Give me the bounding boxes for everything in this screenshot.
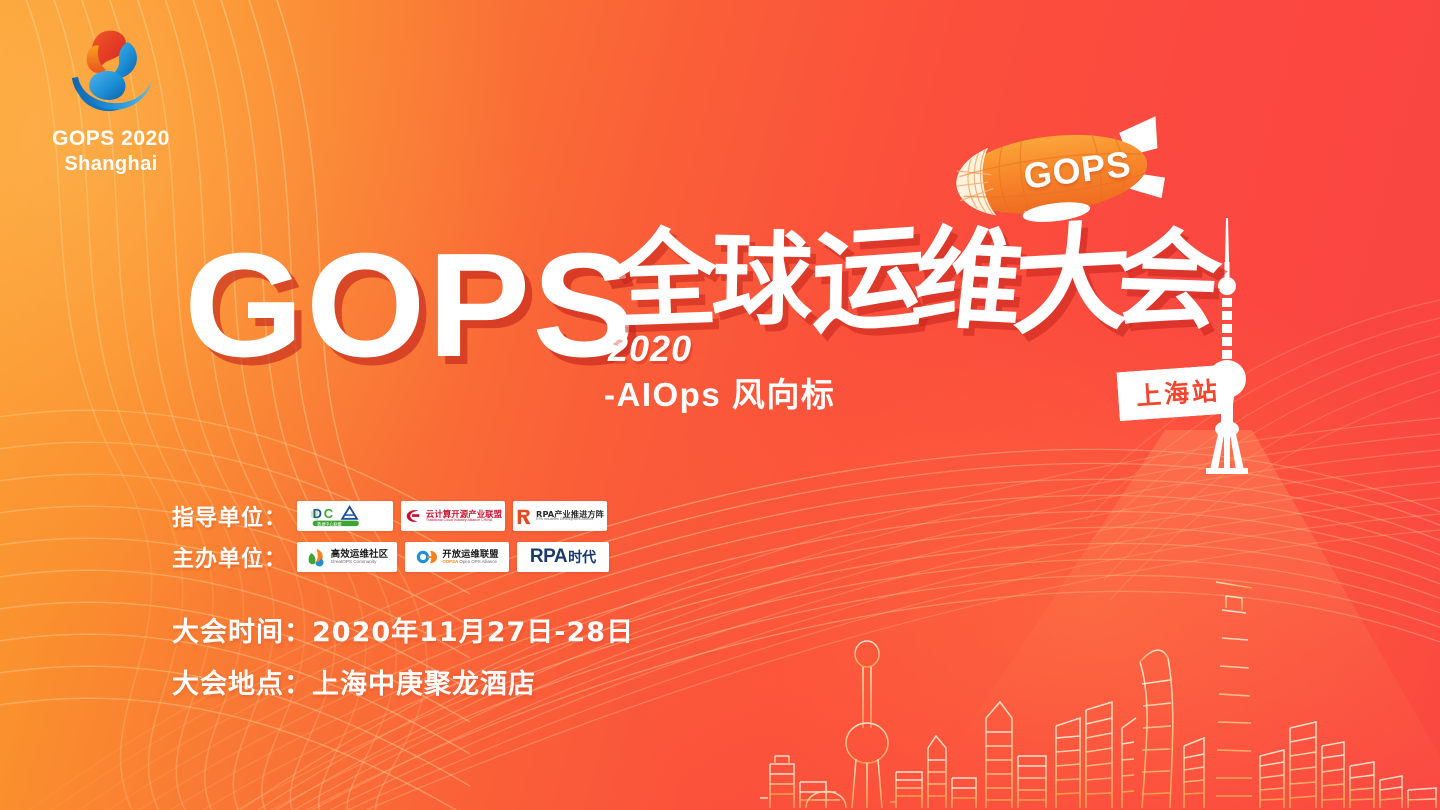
brand-title: GOPS 2020	[36, 126, 186, 151]
event-info: 大会时间：2020年11月27日-28日 大会地点：上海中庚聚龙酒店	[172, 610, 634, 714]
sponsor-row-label: 指导单位：	[172, 500, 297, 532]
gops-phoenix-logo	[56, 22, 166, 122]
dca-logo: D C 数据中心联盟	[305, 504, 385, 528]
title-char-2: 球	[711, 229, 814, 332]
shanghai-skyline-icon	[760, 550, 1440, 810]
title-char-4: 维	[908, 223, 1028, 337]
title-char-1: 全	[609, 225, 719, 335]
page-title: GOPS	[184, 238, 637, 374]
event-date: 大会时间：2020年11月27日-28日	[172, 610, 634, 649]
sponsor-row-organizer: 主办单位： 高效运维社区 GreatOPS Community	[172, 541, 617, 573]
logo-card-dca[interactable]: D C 数据中心联盟	[297, 501, 393, 531]
logo-card-rpa-industry[interactable]: RPA产业推进方阵 RPA Industries Development All…	[513, 501, 607, 531]
event-venue: 大会地点：上海中庚聚龙酒店	[172, 662, 634, 701]
city-badge: 上海站	[1116, 364, 1241, 421]
title-year: 2020	[608, 328, 692, 370]
greatops-logo	[306, 547, 327, 568]
logo-card-greatops[interactable]: 高效运维社区 GreatOPS Community	[297, 542, 397, 572]
title-subtitle: -AIOps 风向标	[604, 368, 835, 416]
sponsor-row-guidance: 指导单位： D C 数据中心联盟	[172, 500, 617, 532]
oopsa-logo	[415, 548, 438, 566]
svg-text:C: C	[324, 506, 333, 521]
title-chinese: 全球运维大会	[612, 228, 1220, 332]
brand-logo: GOPS 2020 Shanghai	[36, 22, 186, 178]
title-char-6: 会	[1109, 225, 1227, 336]
logo-card-oopsa[interactable]: 开放运维联盟 OOPSA Open OPS Alliance	[405, 542, 509, 572]
conference-poster: GOPS 2020 Shanghai	[0, 0, 1440, 810]
brand-city: Shanghai	[36, 151, 186, 178]
logo-card-cloud-alliance[interactable]: 云计算开源产业联盟 Traditional Cloud Industry All…	[401, 501, 505, 531]
cloud-alliance-logo	[404, 507, 422, 525]
svg-text:数据中心联盟: 数据中心联盟	[317, 520, 341, 526]
city-badge-label: 上海站	[1116, 364, 1241, 421]
logo-card-rpa-era[interactable]: RPA 时代	[517, 542, 609, 572]
sponsor-section: 指导单位： D C 数据中心联盟	[172, 500, 617, 582]
sponsor-row-label: 主办单位：	[172, 541, 297, 573]
rpa-industry-logo	[516, 508, 533, 525]
